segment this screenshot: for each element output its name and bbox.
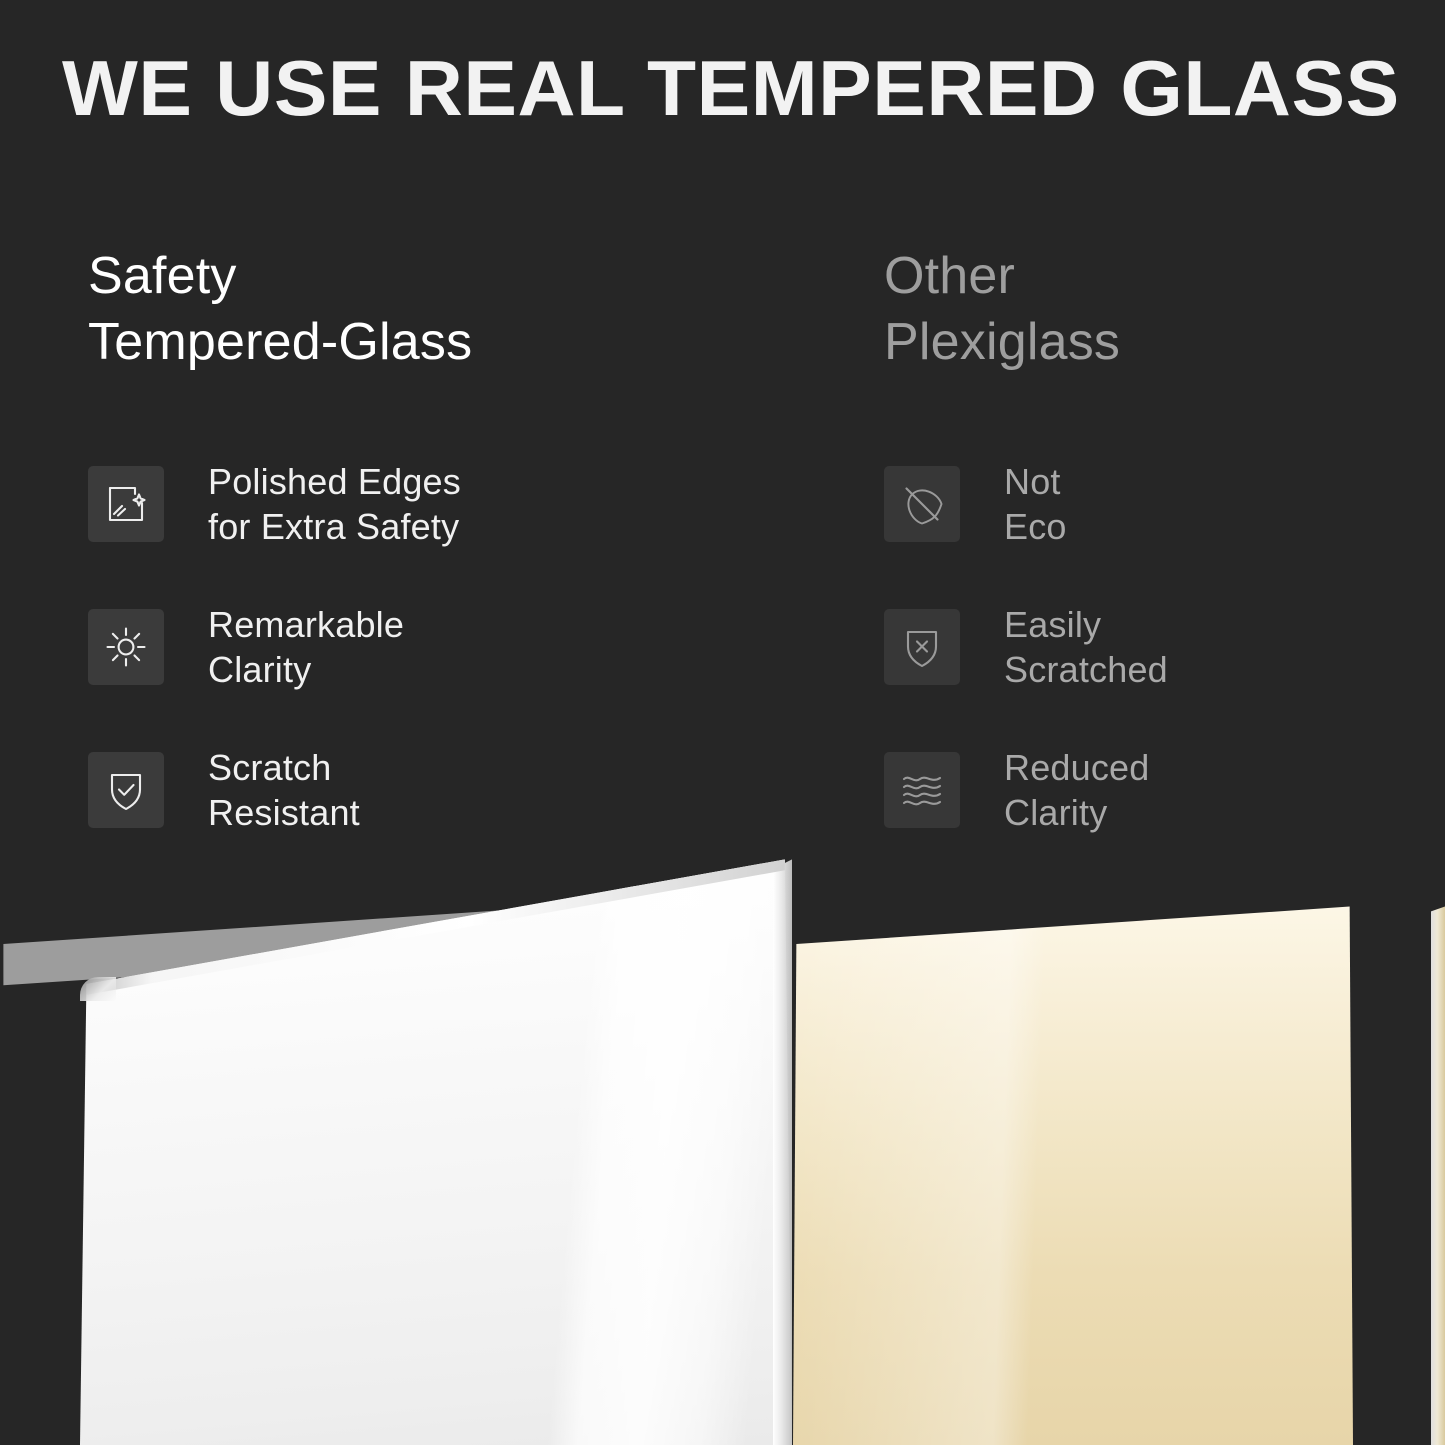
leaf-crossed-out-icon [884, 466, 960, 542]
feature-item-scratch-resistant: Scratch Resistant [88, 738, 461, 842]
feature-label: Easily Scratched [1004, 602, 1168, 692]
feature-label: Remarkable Clarity [208, 602, 404, 692]
plexiglass-panel [793, 840, 1353, 1445]
feature-item-polished-edges: Polished Edges for Extra Safety [88, 452, 461, 556]
tempered-glass-right-edge [773, 840, 792, 1445]
feature-label: Not Eco [1004, 459, 1067, 549]
feature-item-remarkable-clarity: Remarkable Clarity [88, 595, 461, 699]
feature-label: Scratch Resistant [208, 745, 360, 835]
feature-item-easily-scratched: Easily Scratched [884, 595, 1168, 699]
shield-check-icon [88, 752, 164, 828]
wavy-lines-icon [884, 752, 960, 828]
feature-label: Reduced Clarity [1004, 745, 1150, 835]
feature-list-plexiglass: Not Eco Easily Scratched [884, 452, 1168, 842]
column-title-tempered-glass: Safety Tempered-Glass [88, 243, 472, 375]
feature-label: Polished Edges for Extra Safety [208, 459, 461, 549]
tempered-glass-polished-corner [80, 977, 116, 1001]
comparison-infographic: WE USE REAL TEMPERED GLASS Safety Temper… [0, 0, 1445, 1445]
sun-clarity-icon [88, 609, 164, 685]
column-title-plexiglass: Other Plexiglass [884, 243, 1120, 375]
polished-glass-pane-sparkle-icon [88, 466, 164, 542]
feature-item-not-eco: Not Eco [884, 452, 1168, 556]
feature-list-tempered-glass: Polished Edges for Extra Safety Remarkab… [88, 452, 461, 842]
shield-x-icon [884, 609, 960, 685]
plexiglass-right-edge [1431, 840, 1445, 1445]
feature-item-reduced-clarity: Reduced Clarity [884, 738, 1168, 842]
page-title: WE USE REAL TEMPERED GLASS [62, 40, 1432, 136]
product-photo [0, 840, 1445, 1445]
